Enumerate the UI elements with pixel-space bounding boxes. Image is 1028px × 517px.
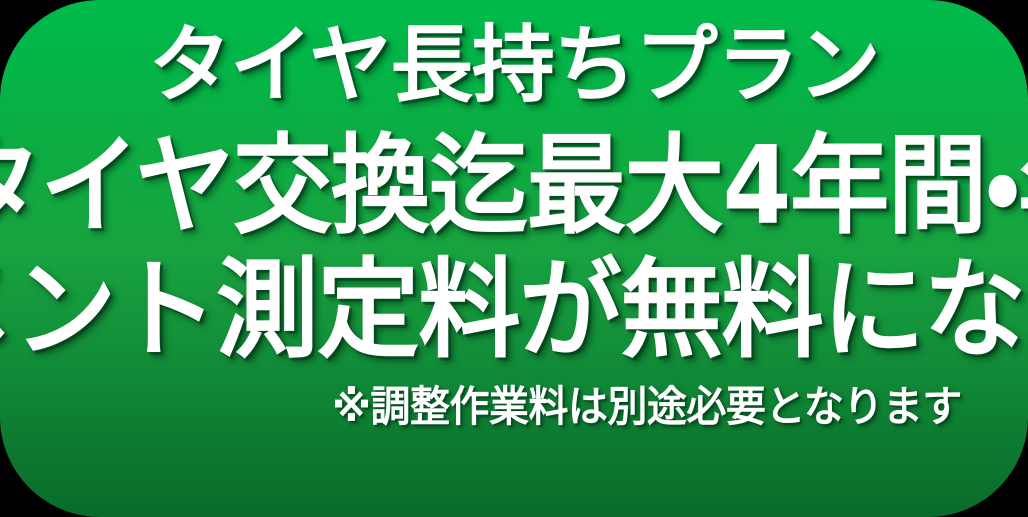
banner-body-line-2: アライメント測定料が無料になります。: [39, 250, 989, 372]
promo-banner: タイヤ長持ちプラン 次回のタイヤ交換迄最大4年間・年に1回 アライメント測定料が…: [0, 0, 1028, 517]
banner-footnote-row: ※調整作業料は別途必要となります: [14, 386, 1014, 428]
banner-body-line-1: 次回のタイヤ交換迄最大4年間・年に1回: [54, 124, 974, 250]
banner-footnote: ※調整作業料は別途必要となります: [332, 386, 962, 428]
banner-title: タイヤ長持ちプラン: [22, 6, 1007, 124]
banner-content: タイヤ長持ちプラン 次回のタイヤ交換迄最大4年間・年に1回 アライメント測定料が…: [0, 0, 1028, 517]
